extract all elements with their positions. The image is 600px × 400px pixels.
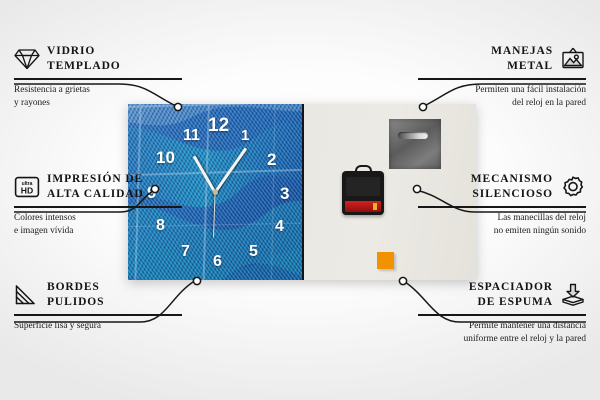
feature-title-line1: IMPRESIÓN DE — [47, 172, 144, 187]
picture-frame-hanger-icon — [560, 46, 586, 72]
feature-divider — [14, 314, 182, 315]
clock-center-pin — [213, 190, 218, 195]
feature-mecanismo-silencioso: MECANISMO SILENCIOSO Las manecillas del … — [418, 172, 586, 238]
feature-title-line1: MECANISMO — [471, 172, 553, 187]
clock-numeral-1: 1 — [241, 128, 249, 143]
clock-numeral-4: 4 — [275, 219, 284, 235]
feature-subtitle-line2: no emiten ningún sonido — [418, 225, 586, 238]
movement-body — [346, 177, 380, 196]
feature-subtitle-line2: uniforme entre el reloj y la pared — [418, 333, 586, 346]
feature-subtitle-line1: Permiten una fácil instalación — [418, 84, 586, 97]
feature-divider — [14, 78, 182, 79]
feature-subtitle-line1: Resistencia a grietas — [14, 84, 182, 97]
feature-divider — [14, 206, 182, 207]
gear-icon — [560, 174, 586, 200]
diamond-icon — [14, 46, 40, 72]
feature-title-line2: DE ESPUMA — [469, 295, 553, 310]
feature-subtitle-line1: Colores intensos — [14, 212, 182, 225]
feature-subtitle-line2: y rayones — [14, 97, 182, 110]
feature-divider — [418, 78, 586, 79]
feature-divider — [418, 314, 586, 315]
polished-edges-icon — [14, 282, 40, 308]
quartz-movement — [342, 171, 384, 215]
feature-title-line2: TEMPLADO — [47, 59, 121, 74]
feature-title-line2: METAL — [491, 59, 553, 74]
feature-title-line1: VIDRIO — [47, 44, 121, 59]
feature-bordes-pulidos: BORDES PULIDOS Superficie lisa y segura — [14, 280, 182, 333]
feature-manejas-metal: MANEJAS METAL Permiten una fácil instala… — [418, 44, 586, 110]
feature-divider — [418, 206, 586, 207]
hanger-slot — [398, 132, 428, 139]
feature-title-line2: SILENCIOSO — [471, 187, 553, 202]
clock-numeral-3: 3 — [280, 185, 289, 202]
metal-hanger-plate — [389, 119, 441, 169]
svg-text:HD: HD — [21, 186, 33, 196]
feature-vidrio-templado: VIDRIO TEMPLADO Resistencia a grietas y … — [14, 44, 182, 110]
foam-spacer — [377, 252, 394, 269]
feature-impresion-alta-calidad: ultra HD IMPRESIÓN DE ALTA CALIDAD Color… — [14, 172, 182, 238]
clock-numeral-2: 2 — [267, 151, 276, 168]
clock-numeral-7: 7 — [181, 244, 190, 260]
clock-numeral-12: 12 — [208, 116, 229, 135]
feature-title-line2: PULIDOS — [47, 295, 104, 310]
ultra-hd-icon: ultra HD — [14, 174, 40, 200]
feature-subtitle-line1: Las manecillas del reloj — [418, 212, 586, 225]
clock-numeral-11: 11 — [183, 128, 200, 144]
aa-battery — [345, 201, 381, 212]
foam-spacer-arrow-icon — [560, 282, 586, 308]
feature-subtitle-line2: e imagen vívida — [14, 225, 182, 238]
movement-hook — [355, 165, 372, 174]
clock-numeral-10: 10 — [156, 149, 175, 166]
feature-title-line2: ALTA CALIDAD — [47, 187, 144, 202]
feature-title-line1: ESPACIADOR — [469, 280, 553, 295]
feature-subtitle-line1: Superficie lisa y segura — [14, 320, 182, 333]
infographic-stage: 12 1 2 3 4 5 6 7 8 9 10 11 — [0, 0, 600, 400]
feature-subtitle-line1: Permite mantener una distancia — [418, 320, 586, 333]
feature-espaciador-espuma: ESPACIADOR DE ESPUMA Permite mantener un… — [418, 280, 586, 346]
clock-numeral-5: 5 — [249, 244, 258, 260]
feature-title-line1: MANEJAS — [491, 44, 553, 59]
feature-subtitle-line2: del reloj en la pared — [418, 97, 586, 110]
feature-title-line1: BORDES — [47, 280, 104, 295]
clock-numeral-6: 6 — [213, 254, 222, 270]
